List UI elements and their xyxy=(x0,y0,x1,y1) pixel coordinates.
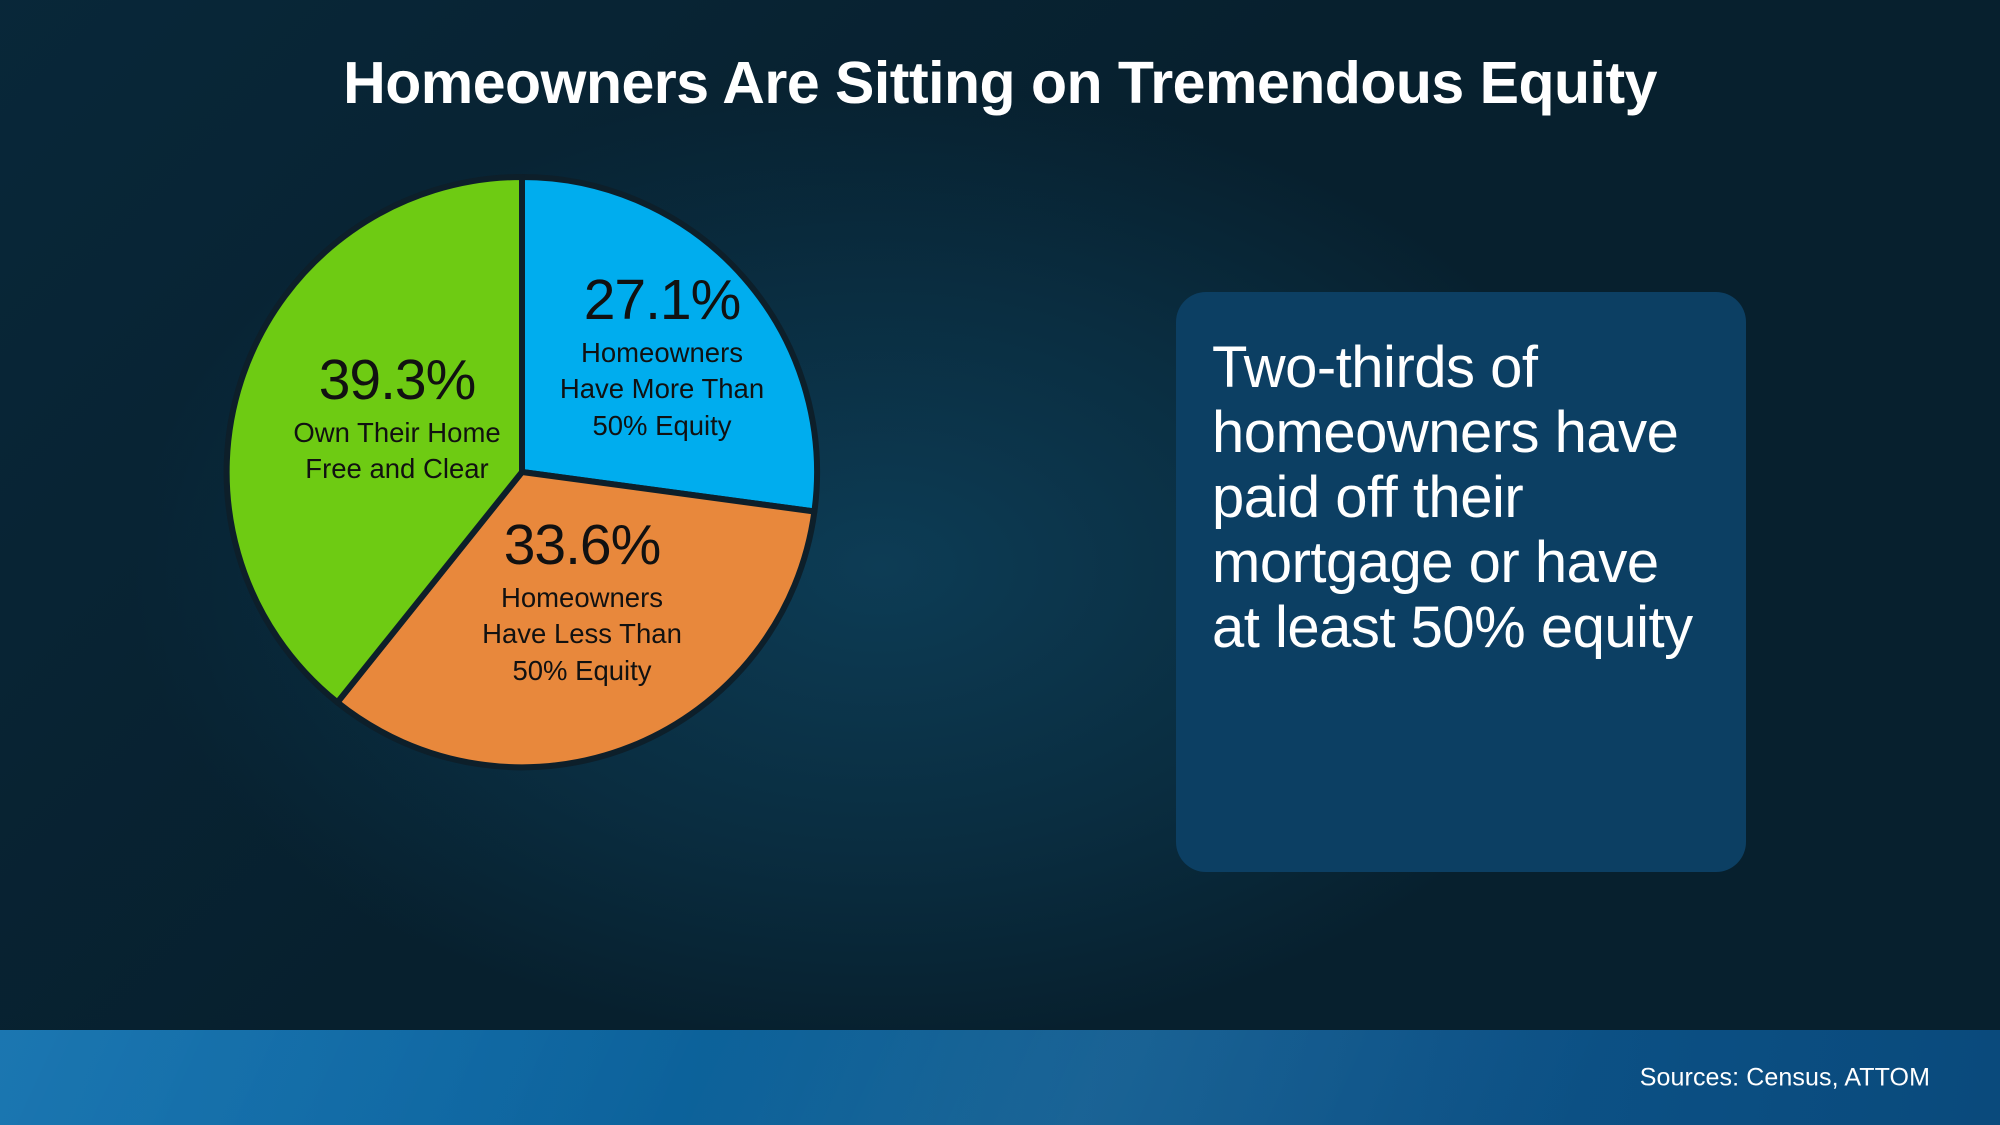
pie-slice-blue[interactable] xyxy=(522,177,817,512)
pie-chart-svg xyxy=(222,172,822,772)
callout-card: Two-thirds of homeowners have paid off t… xyxy=(1176,292,1746,872)
pie-chart: 27.1% Homeowners Have More Than 50% Equi… xyxy=(222,172,822,772)
footer-bar: Sources: Census, ATTOM xyxy=(0,1030,2000,1125)
slide-canvas: Homeowners Are Sitting on Tremendous Equ… xyxy=(0,0,2000,1125)
page-title: Homeowners Are Sitting on Tremendous Equ… xyxy=(0,50,2000,118)
callout-text: Two-thirds of homeowners have paid off t… xyxy=(1212,336,1710,661)
sources-text: Sources: Census, ATTOM xyxy=(1640,1063,1930,1092)
